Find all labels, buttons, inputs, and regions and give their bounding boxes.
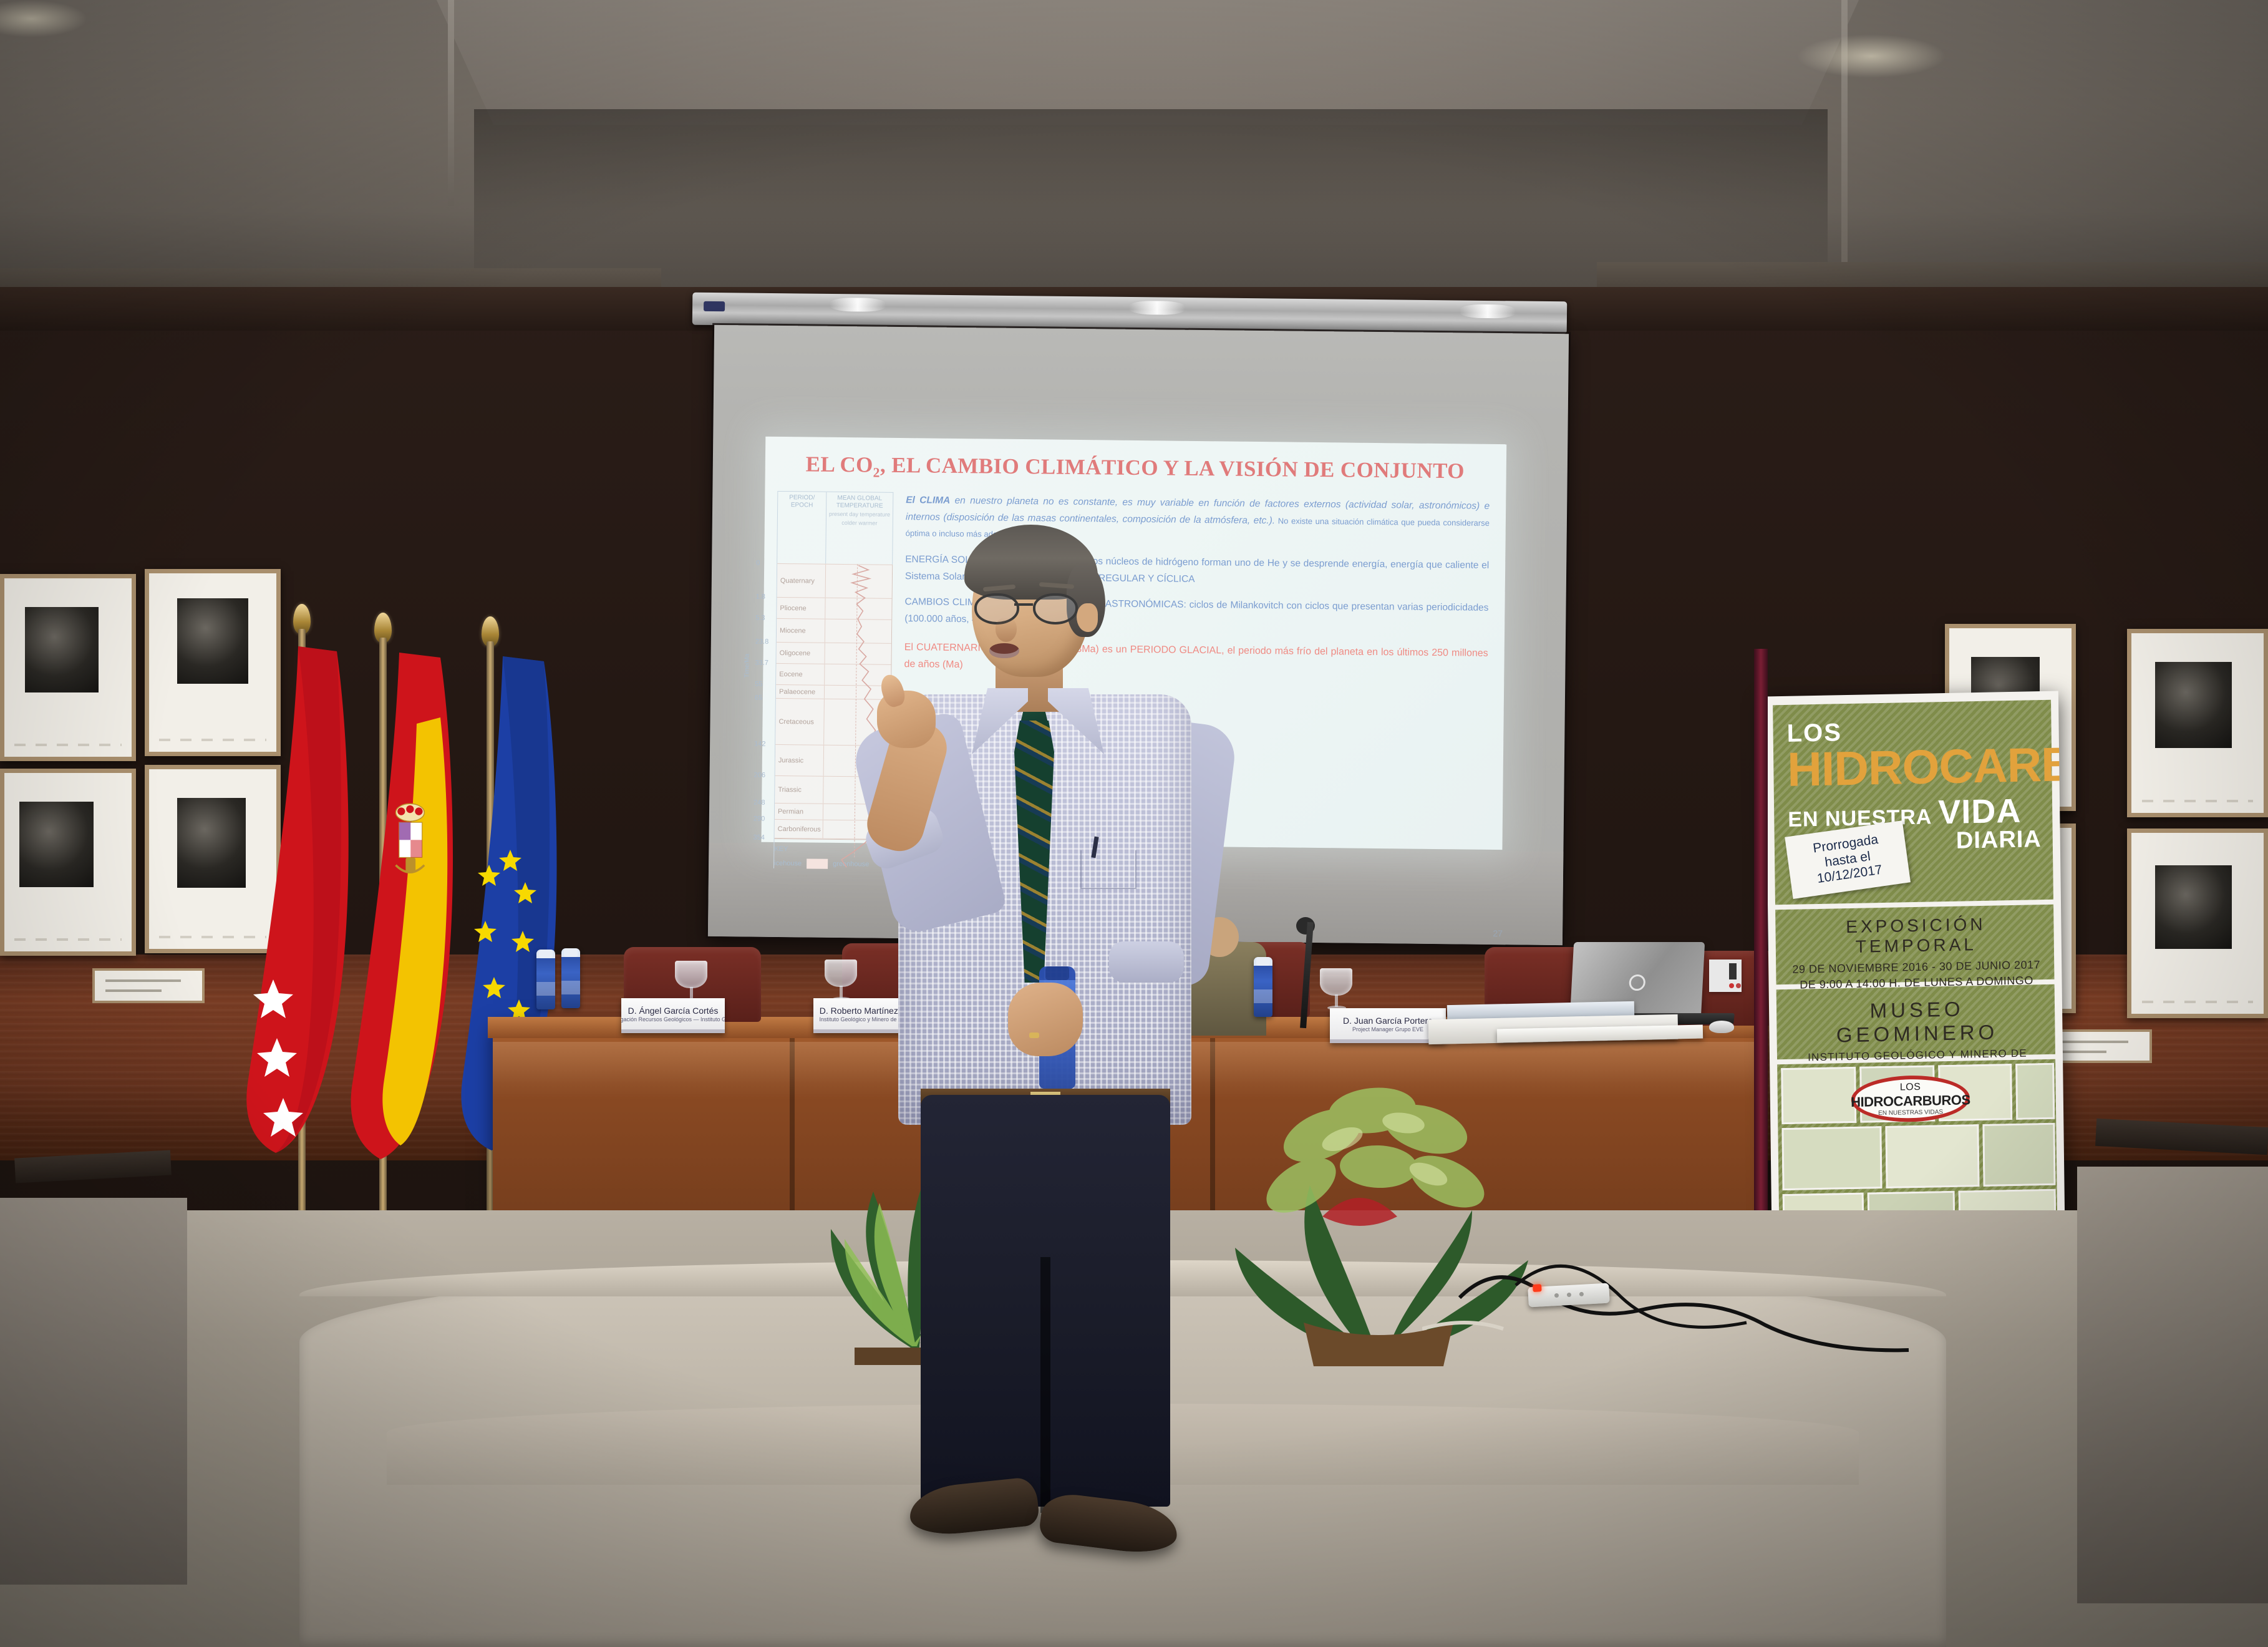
ceiling-light-left	[0, 0, 87, 37]
geo-row-name: Miocene	[777, 619, 825, 643]
artwork-plate	[19, 802, 93, 887]
banner-headline-block: LOS HIDROCARBUROS EN NUESTRA VIDA DIARIA…	[1773, 700, 2053, 905]
wall-artwork-frame	[2127, 828, 2268, 1018]
presenter-left-cuff	[1109, 941, 1184, 983]
banner-line-vida: VIDA	[1938, 792, 2022, 832]
geo-row-age: 0	[756, 560, 760, 567]
presenter-ear	[1077, 603, 1098, 632]
geo-col-period: PERIOD/ EPOCH	[777, 492, 826, 564]
geo-row-name: Jurassic	[775, 745, 825, 776]
artwork-caption-line	[2142, 1001, 2253, 1003]
geo-row-age: 55	[755, 681, 762, 688]
geo-row-age: 206	[754, 772, 765, 779]
artwork-wall-label	[92, 968, 205, 1003]
geo-row-age: 142	[754, 741, 765, 748]
geo-row-name: Oligocene	[776, 643, 825, 664]
banner-expo-title: EXPOSICIÓN TEMPORAL	[1784, 913, 2048, 958]
placard-name: D. Juan García Portero	[1343, 1016, 1433, 1026]
name-placard: D. Ángel García Cortés Director Adjunto …	[621, 998, 725, 1033]
slide-page-number: 27	[1493, 928, 1503, 938]
av-control-box[interactable]	[1709, 960, 1742, 992]
ceiling-panel	[437, 0, 1859, 125]
geo-row-name: Pliocene	[777, 598, 825, 619]
artwork-caption-line	[14, 744, 121, 746]
geo-row-age: 248	[754, 799, 765, 807]
geo-row-age: 65	[755, 694, 762, 702]
artwork-plate	[25, 607, 99, 692]
artwork-plate	[177, 798, 246, 888]
computer-mouse[interactable]	[1709, 1021, 1734, 1033]
geo-row-age: 1.8	[756, 593, 765, 601]
geo-row-name: Permian	[775, 804, 823, 820]
presenter-shirt-pocket	[1080, 850, 1136, 889]
placard-name: D. Ángel García Cortés	[628, 1006, 719, 1016]
wall-artwork-frame	[0, 769, 136, 956]
floor-cables	[1422, 1223, 1984, 1385]
geo-row-name: Triassic	[775, 776, 823, 804]
oval-line-mid: HIDROCARBUROS	[1851, 1092, 1970, 1110]
geo-row-age: 5.3	[755, 615, 765, 622]
geo-axis-label: Time/Ma	[744, 654, 750, 678]
screen-brand-badge	[704, 301, 725, 311]
ceiling-seam-left	[448, 0, 454, 206]
wine-glass[interactable]	[825, 960, 857, 1003]
wine-glass[interactable]	[1320, 968, 1352, 1012]
banner-expo-block: EXPOSICIÓN TEMPORAL 29 DE NOVIEMBRE 2016…	[1775, 905, 2054, 985]
presenter-nose	[996, 617, 1017, 642]
placard-role: Director Adjunto Geol. Investigación Rec…	[621, 1016, 725, 1023]
banner-line-hidrocarburos: HIDROCARBUROS	[1787, 742, 2041, 794]
side-wall-right	[2077, 1167, 2268, 1603]
banner-expo-dates: 29 DE NOVIEMBRE 2016 - 30 DE JUNIO 2017	[1785, 958, 2048, 976]
presenter	[861, 533, 1260, 1544]
geo-row-name: Cretaceous	[775, 699, 825, 745]
water-bottle[interactable]	[561, 948, 580, 1008]
artwork-plate	[2155, 662, 2232, 748]
geo-key-swatch	[807, 858, 828, 868]
geo-row-age: 290	[754, 815, 765, 823]
ceiling-light-right	[1796, 34, 1946, 78]
slide-title: EL CO2, EL CAMBIO CLIMÁTICO Y LA VISIÓN …	[778, 452, 1493, 487]
geo-row-name: Carboniferous	[775, 820, 823, 838]
geo-col-subtitle: present day temperature	[826, 511, 893, 518]
geo-row-name: Eocene	[776, 664, 825, 685]
presenter-mouth	[989, 643, 1019, 658]
oval-line-bot: EN NUESTRAS VIDAS	[1878, 1109, 1943, 1117]
eyeglasses-bridge-icon	[1014, 603, 1033, 606]
geo-axis-hint: colder warmer	[826, 520, 893, 527]
ceiling	[0, 0, 2268, 293]
wedding-ring-icon	[1029, 1032, 1039, 1038]
artwork-caption-line	[2142, 800, 2253, 802]
power-indicator-icon	[1533, 1284, 1542, 1292]
wall-artwork-frame	[2127, 629, 2268, 817]
geo-row-age: 23.8	[755, 638, 769, 646]
geo-bottom-age: 354	[754, 834, 765, 842]
eyeglasses-right-lens-icon	[1033, 593, 1078, 624]
presenter-left-hand	[1008, 983, 1083, 1056]
geo-row-name: Quaternary	[777, 564, 826, 598]
side-wall-left	[0, 1198, 187, 1585]
hp-logo-icon	[1629, 974, 1645, 991]
wall-artwork-frame	[0, 574, 136, 761]
artwork-plate	[2155, 865, 2232, 948]
conference-hall-scene: EL CO2, EL CAMBIO CLIMÁTICO Y LA VISIÓN …	[0, 0, 2268, 1647]
geo-row-name: Palaeocene	[776, 685, 825, 699]
presenter-leg-separation	[1040, 1257, 1050, 1513]
geo-key-label-icehouse: icehouse	[774, 860, 802, 867]
banner-museum-name: MUSEO GEOMINERO	[1785, 996, 2049, 1048]
oval-line-top: LOS	[1900, 1081, 1921, 1093]
geo-row-age: 33.7	[755, 659, 768, 667]
power-strip[interactable]	[1528, 1283, 1609, 1308]
artwork-caption-line	[14, 938, 121, 941]
water-bottle[interactable]	[536, 950, 555, 1009]
banner-museum-block: MUSEO GEOMINERO INSTITUTO GEOLÓGICO Y MI…	[1776, 984, 2055, 1060]
